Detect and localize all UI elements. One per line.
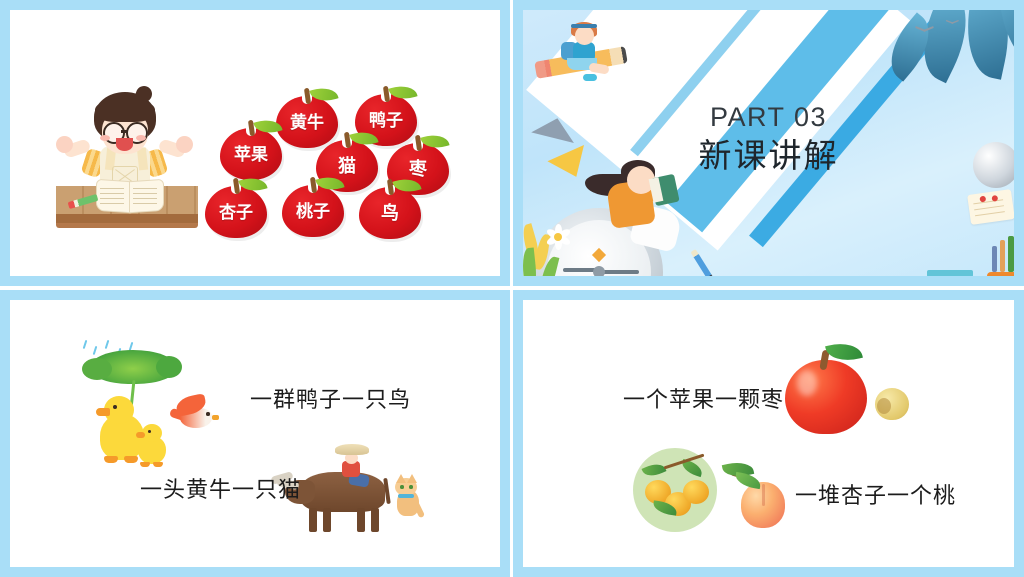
apple-label: 鸭子: [355, 94, 417, 146]
boy-on-buffalo-illustration: [295, 446, 420, 526]
apple-card[interactable]: 鸭子: [355, 86, 417, 146]
phrase-line: 一头黄牛一只猫: [140, 472, 301, 504]
bird-icon: [946, 21, 959, 27]
phrase-line: 一群鸭子一只鸟: [250, 382, 411, 414]
section-title-block: PART 03 新课讲解: [523, 102, 1014, 176]
apple-label: 杏子: [205, 186, 267, 238]
apple-card[interactable]: 枣: [387, 135, 449, 195]
slide-grid: 苹果 黄牛 鸭子 猫 枣 杏子: [0, 0, 1024, 577]
desk-icon: [56, 186, 198, 228]
apple-label: 苹果: [220, 128, 282, 180]
dried-date-icon: [875, 388, 909, 420]
section-title: 新课讲解: [523, 135, 1014, 176]
apple-card[interactable]: 鸟: [359, 179, 421, 239]
apple-card[interactable]: 猫: [316, 132, 378, 192]
open-book-icon: [96, 180, 162, 210]
slide-top-left-canvas: 苹果 黄牛 鸭子 猫 枣 杏子: [10, 10, 500, 276]
slide-bottom-left[interactable]: 一群鸭子一只鸟 一头黄牛一只猫: [0, 290, 510, 577]
boy-at-desk-illustration: [54, 88, 194, 228]
pencil-cup-icon: [987, 258, 1014, 276]
slide-top-left[interactable]: 苹果 黄牛 鸭子 猫 枣 杏子: [0, 0, 510, 286]
section-divider-canvas: PART 03 新课讲解: [523, 10, 1014, 276]
slide-bottom-right[interactable]: 一个苹果一颗枣 一堆杏子一个桃: [513, 290, 1024, 577]
slide-bottom-right-canvas: 一个苹果一颗枣 一堆杏子一个桃: [523, 300, 1014, 567]
slide-bottom-left-canvas: 一群鸭子一只鸟 一头黄牛一只猫: [10, 300, 500, 567]
peach-icon: [723, 460, 791, 530]
desk-supplies-group: [959, 206, 1014, 276]
apple-card[interactable]: 桃子: [282, 177, 344, 237]
bird-icon: [172, 396, 218, 430]
apple-card[interactable]: 黄牛: [276, 88, 338, 148]
cat-icon: [393, 476, 427, 520]
daisy-flower-icon: [545, 224, 571, 250]
ducks-under-lotus-illustration: [72, 340, 212, 465]
apple-card[interactable]: 杏子: [205, 178, 267, 238]
duckling-icon: [136, 424, 168, 466]
part-label: PART 03: [523, 102, 1014, 133]
blue-pencil-icon: [690, 249, 713, 276]
red-apple-icon: [785, 342, 867, 434]
girl-riding-pencil-icon: [535, 20, 635, 92]
book-stack-icon: [927, 270, 981, 276]
apricots-on-dish-icon: [633, 448, 717, 532]
bird-icon: [915, 28, 933, 36]
apple-card[interactable]: 苹果: [220, 120, 282, 180]
apple-label: 桃子: [282, 185, 344, 237]
slide-top-right[interactable]: PART 03 新课讲解: [513, 0, 1024, 286]
rider-boy-icon: [331, 444, 375, 484]
phrase-line: 一个苹果一颗枣: [623, 382, 784, 414]
apple-label: 鸟: [359, 187, 421, 239]
lotus-leaf-icon: [90, 350, 176, 384]
phrase-line: 一堆杏子一个桃: [795, 478, 956, 510]
